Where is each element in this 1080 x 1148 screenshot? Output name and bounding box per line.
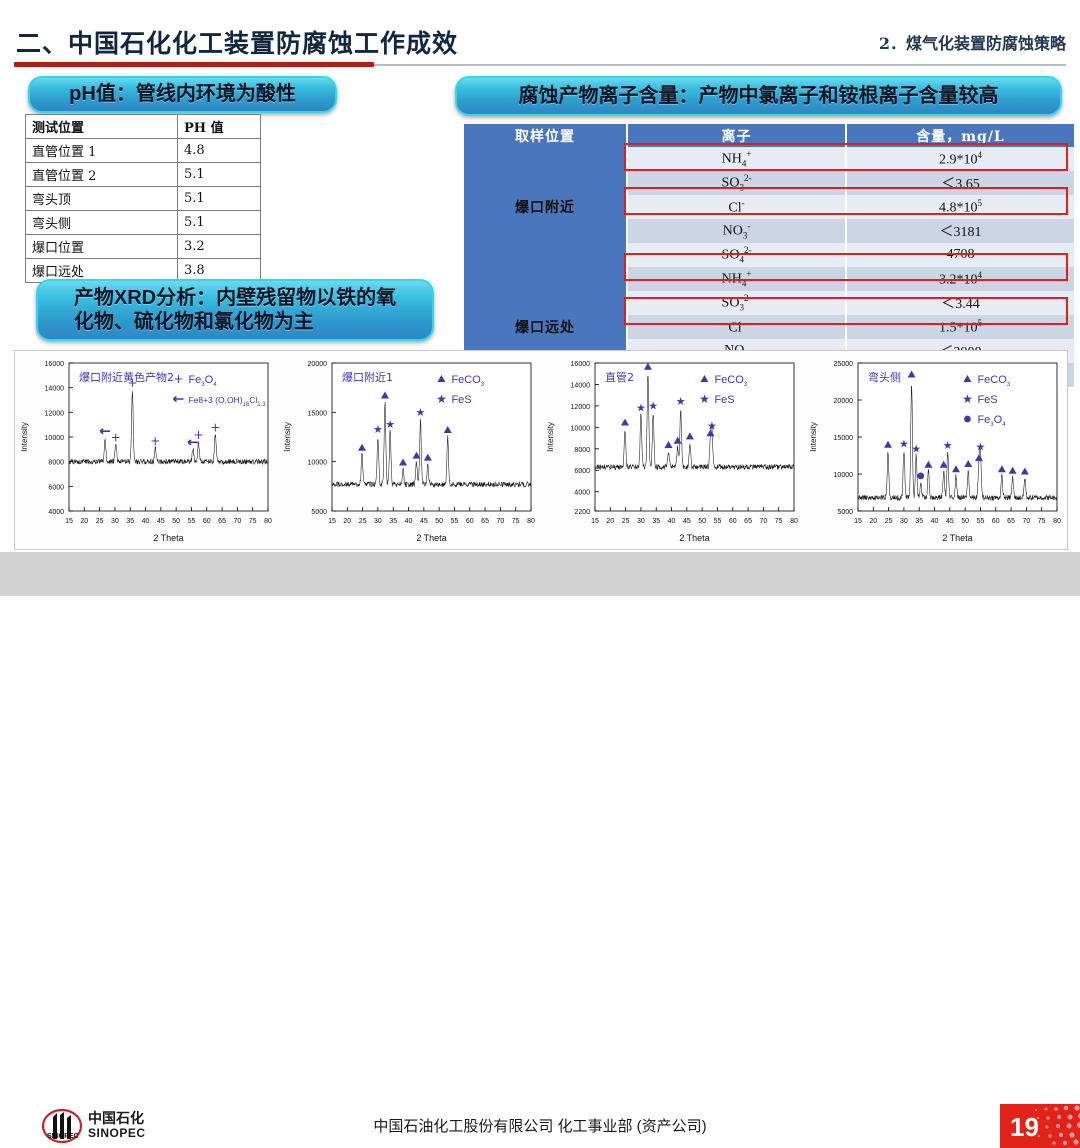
svg-text:65: 65 [218, 518, 226, 525]
ion-cell-value: ＜3181 [846, 219, 1074, 243]
svg-text:65: 65 [481, 518, 489, 525]
xrd-chart-2: 15 20 25 30 35 40 45 50 55 60 65 70 75 8… [278, 351, 541, 547]
ion-cell-formula: SO42- [627, 243, 846, 267]
svg-text:20: 20 [343, 518, 351, 525]
svg-text:75: 75 [512, 518, 520, 525]
svg-text:12000: 12000 [571, 404, 591, 411]
svg-text:+: + [193, 428, 203, 442]
svg-text:★: ★ [373, 423, 383, 436]
svg-text:60: 60 [203, 518, 211, 525]
ph-cell-location: 直管位置 1 [26, 139, 178, 163]
svg-text:6000: 6000 [48, 484, 64, 491]
ph-banner: pH值：管线内环境为酸性 [28, 76, 337, 113]
svg-text:★: ★ [899, 437, 909, 450]
table-header-row: 取样位置 离子 含量，mg/L [464, 124, 1074, 147]
svg-text:75: 75 [249, 518, 257, 525]
svg-text:15000: 15000 [308, 410, 328, 417]
table-header-row: 测试位置 PH 值 [26, 115, 261, 139]
ion-cell-location: 爆口附近 [464, 147, 627, 267]
svg-text:★: ★ [436, 392, 447, 406]
svg-text:Intensity: Intensity [20, 422, 29, 452]
svg-text:4000: 4000 [574, 490, 590, 497]
svg-text:15: 15 [328, 518, 336, 525]
svg-text:★: ★ [385, 418, 395, 431]
svg-text:20: 20 [869, 518, 877, 525]
svg-text:+: + [173, 372, 183, 386]
svg-text:20: 20 [606, 518, 614, 525]
svg-text:12000: 12000 [45, 410, 65, 417]
xrd-banner-line1: 产物XRD分析：内壁残留物以铁的氧 [74, 286, 396, 310]
svg-text:25: 25 [96, 518, 104, 525]
ph-cell-value: 5.1 [178, 187, 261, 211]
svg-text:FeS: FeS [714, 394, 734, 406]
svg-text:50: 50 [435, 518, 443, 525]
svg-text:★: ★ [416, 406, 426, 419]
svg-text:爆口附近1: 爆口附近1 [342, 370, 393, 384]
svg-text:+: + [111, 430, 121, 444]
svg-text:2 Theta: 2 Theta [153, 533, 183, 543]
svg-text:40: 40 [142, 518, 150, 525]
table-row: 爆口远处NH4+3.2*104 [464, 267, 1074, 291]
svg-text:35: 35 [915, 518, 923, 525]
svg-text:60: 60 [466, 518, 474, 525]
svg-text:★: ★ [707, 420, 717, 433]
ion-col-header-ion: 离子 [627, 124, 846, 147]
svg-text:20: 20 [80, 518, 88, 525]
xrd-analysis-banner: 产物XRD分析：内壁残留物以铁的氧 化物、硫化物和氯化物为主 [36, 279, 434, 341]
svg-text:14000: 14000 [571, 382, 591, 389]
svg-text:25: 25 [359, 518, 367, 525]
svg-text:10000: 10000 [834, 472, 854, 479]
ph-cell-value: 5.1 [178, 211, 261, 235]
svg-text:60: 60 [992, 518, 1000, 525]
page-number: 19 [1010, 1112, 1039, 1143]
ion-table: 取样位置 离子 含量，mg/L 爆口附近NH4+2.9*104SO32-＜3.6… [464, 124, 1074, 387]
ion-col-header-content: 含量，mg/L [846, 124, 1074, 147]
ph-cell-location: 直管位置 2 [26, 163, 178, 187]
svg-text:16000: 16000 [571, 361, 591, 368]
table-row: 弯头顶5.1 [26, 187, 261, 211]
page-number-badge: 19 [1000, 1104, 1080, 1148]
svg-text:Intensity: Intensity [546, 422, 555, 452]
svg-text:4000: 4000 [48, 509, 64, 516]
svg-text:14000: 14000 [45, 386, 65, 393]
svg-text:+: + [210, 421, 220, 435]
ion-cell-value: 4.8*105 [846, 195, 1074, 219]
svg-text:40: 40 [668, 518, 676, 525]
svg-text:爆口附近黄色产物2: 爆口附近黄色产物2 [79, 370, 174, 384]
svg-text:75: 75 [1038, 518, 1046, 525]
svg-text:★: ★ [962, 392, 973, 406]
svg-text:FeS: FeS [451, 394, 471, 406]
svg-text:30: 30 [637, 518, 645, 525]
svg-text:2 Theta: 2 Theta [942, 533, 972, 543]
svg-text:★: ★ [699, 392, 710, 406]
ion-cell-value: 4708 [846, 243, 1074, 267]
svg-text:★: ★ [636, 401, 646, 414]
svg-text:2200: 2200 [574, 509, 590, 516]
ph-cell-value: 5.1 [178, 163, 261, 187]
svg-text:40: 40 [931, 518, 939, 525]
svg-text:80: 80 [264, 518, 272, 525]
svg-text:60: 60 [729, 518, 737, 525]
ion-table-wrapper: 取样位置 离子 含量，mg/L 爆口附近NH4+2.9*104SO32-＜3.6… [464, 124, 1064, 387]
slide-footer: SINOPEC 中国石化 SINOPEC 中国石油化工股份有限公司 化工事业部 … [0, 552, 1080, 596]
svg-text:55: 55 [451, 518, 459, 525]
svg-text:FeS: FeS [977, 394, 997, 406]
svg-text:25000: 25000 [834, 361, 854, 368]
svg-text:20000: 20000 [308, 361, 328, 368]
svg-text:★: ★ [943, 439, 953, 452]
xrd-banner-line2: 化物、硫化物和氯化物为主 [74, 310, 396, 334]
ph-cell-value: 3.2 [178, 235, 261, 259]
ion-cell-value: 1.5*105 [846, 315, 1074, 339]
ion-col-header-location: 取样位置 [464, 124, 627, 147]
svg-text:65: 65 [744, 518, 752, 525]
ion-cell-value: 3.2*104 [846, 267, 1074, 291]
svg-text:10000: 10000 [571, 425, 591, 432]
ph-cell-location: 爆口位置 [26, 235, 178, 259]
svg-text:65: 65 [1007, 518, 1015, 525]
xrd-chart-svg: 15 20 25 30 35 40 45 50 55 60 65 70 75 8… [541, 351, 804, 547]
ph-table: 测试位置 PH 值 直管位置 14.8直管位置 25.1弯头顶5.1弯头侧5.1… [25, 114, 261, 283]
svg-text:55: 55 [188, 518, 196, 525]
xrd-chart-3: 15 20 25 30 35 40 45 50 55 60 65 70 75 8… [541, 351, 804, 547]
ion-cell-formula: NH4+ [627, 147, 846, 171]
svg-text:40: 40 [405, 518, 413, 525]
ion-cell-value: ＜3.65 [846, 171, 1074, 195]
bottom-white-strip [0, 596, 1080, 608]
ion-cell-formula: SO32- [627, 171, 846, 195]
svg-text:80: 80 [790, 518, 798, 525]
xrd-chart-svg: 15 20 25 30 35 40 45 50 55 60 65 70 75 8… [15, 351, 278, 547]
svg-text:45: 45 [157, 518, 165, 525]
svg-text:直管2: 直管2 [605, 370, 634, 384]
xrd-chart-1: 15 20 25 30 35 40 45 50 55 60 65 70 75 8… [15, 351, 278, 547]
ph-col-header-location: 测试位置 [26, 115, 178, 139]
svg-text:80: 80 [527, 518, 535, 525]
svg-text:30: 30 [900, 518, 908, 525]
table-row: 爆口位置3.2 [26, 235, 261, 259]
svg-text:50: 50 [698, 518, 706, 525]
ion-cell-value: 2.9*104 [846, 147, 1074, 171]
xrd-chart-svg: 15 20 25 30 35 40 45 50 55 60 65 70 75 8… [804, 351, 1067, 547]
svg-text:2 Theta: 2 Theta [416, 533, 446, 543]
svg-text:50: 50 [172, 518, 180, 525]
svg-text:20000: 20000 [834, 398, 854, 405]
slide-header: 二、中国石化化工装置防腐蚀工作成效 2．煤气化装置防腐蚀策略 [0, 0, 1080, 66]
svg-text:10000: 10000 [45, 435, 65, 442]
svg-text:70: 70 [759, 518, 767, 525]
svg-text:+: + [150, 434, 160, 448]
svg-text:Intensity: Intensity [283, 422, 292, 452]
svg-text:★: ★ [911, 443, 921, 456]
footer-center-text: 中国石油化工股份有限公司 化工事业部 (资产公司) [0, 1115, 1080, 1136]
svg-text:弯头侧: 弯头侧 [868, 370, 901, 384]
xrd-chart-svg: 15 20 25 30 35 40 45 50 55 60 65 70 75 8… [278, 351, 541, 547]
header-red-rule [14, 62, 374, 67]
svg-text:5000: 5000 [311, 509, 327, 516]
svg-text:2 Theta: 2 Theta [679, 533, 709, 543]
svg-text:30: 30 [111, 518, 119, 525]
svg-text:6000: 6000 [574, 468, 590, 475]
svg-text:50: 50 [961, 518, 969, 525]
page-title: 二、中国石化化工装置防腐蚀工作成效 [16, 24, 458, 60]
svg-text:80: 80 [1053, 518, 1061, 525]
svg-text:FeCO3: FeCO3 [977, 374, 1010, 388]
table-row: 弯头侧5.1 [26, 211, 261, 235]
xrd-chart-4: 15 20 25 30 35 40 45 50 55 60 65 70 75 8… [804, 351, 1067, 547]
svg-text:8000: 8000 [48, 460, 64, 467]
svg-text:45: 45 [683, 518, 691, 525]
svg-text:70: 70 [496, 518, 504, 525]
table-row: 爆口附近NH4+2.9*104 [464, 147, 1074, 171]
ion-cell-formula: Cl- [627, 315, 846, 339]
svg-text:75: 75 [775, 518, 783, 525]
svg-text:15: 15 [591, 518, 599, 525]
svg-text:10000: 10000 [308, 460, 328, 467]
svg-text:Intensity: Intensity [809, 422, 818, 452]
svg-text:45: 45 [946, 518, 954, 525]
svg-text:FeCO3: FeCO3 [714, 374, 747, 388]
ion-cell-formula: NO3- [627, 219, 846, 243]
ph-cell-value: 4.8 [178, 139, 261, 163]
svg-text:30: 30 [374, 518, 382, 525]
svg-text:25: 25 [622, 518, 630, 525]
svg-text:8000: 8000 [574, 447, 590, 454]
svg-text:35: 35 [652, 518, 660, 525]
header-gray-rule [374, 64, 1066, 66]
slide-root: 二、中国石化化工装置防腐蚀工作成效 2．煤气化装置防腐蚀策略 pH值：管线内环境… [0, 0, 1080, 608]
svg-text:5000: 5000 [837, 509, 853, 516]
ion-cell-formula: NH4+ [627, 267, 846, 291]
svg-text:15: 15 [854, 518, 862, 525]
table-row: 直管位置 14.8 [26, 139, 261, 163]
ion-cell-formula: Cl- [627, 195, 846, 219]
svg-text:55: 55 [977, 518, 985, 525]
svg-text:35: 35 [389, 518, 397, 525]
header-subtitle: 2．煤气化装置防腐蚀策略 [879, 30, 1066, 54]
svg-text:15000: 15000 [834, 435, 854, 442]
ph-cell-location: 弯头顶 [26, 187, 178, 211]
svg-text:FeCO3: FeCO3 [451, 374, 484, 388]
ion-content-banner: 腐蚀产物离子含量：产物中氯离子和铵根离子含量较高 [455, 76, 1062, 116]
svg-text:★: ★ [648, 399, 658, 412]
svg-text:16000: 16000 [45, 361, 65, 368]
svg-text:70: 70 [1022, 518, 1030, 525]
svg-text:25: 25 [885, 518, 893, 525]
svg-text:35: 35 [126, 518, 134, 525]
ion-cell-formula: SO32- [627, 291, 846, 315]
svg-text:★: ★ [676, 395, 686, 408]
svg-text:45: 45 [420, 518, 428, 525]
table-row: 直管位置 25.1 [26, 163, 261, 187]
svg-text:70: 70 [233, 518, 241, 525]
svg-text:55: 55 [714, 518, 722, 525]
ion-cell-value: ＜3.44 [846, 291, 1074, 315]
ph-cell-location: 弯头侧 [26, 211, 178, 235]
svg-text:15: 15 [65, 518, 73, 525]
svg-text:★: ★ [976, 440, 986, 453]
xrd-charts-strip: 15 20 25 30 35 40 45 50 55 60 65 70 75 8… [14, 350, 1068, 550]
ph-col-header-value: PH 值 [178, 115, 261, 139]
